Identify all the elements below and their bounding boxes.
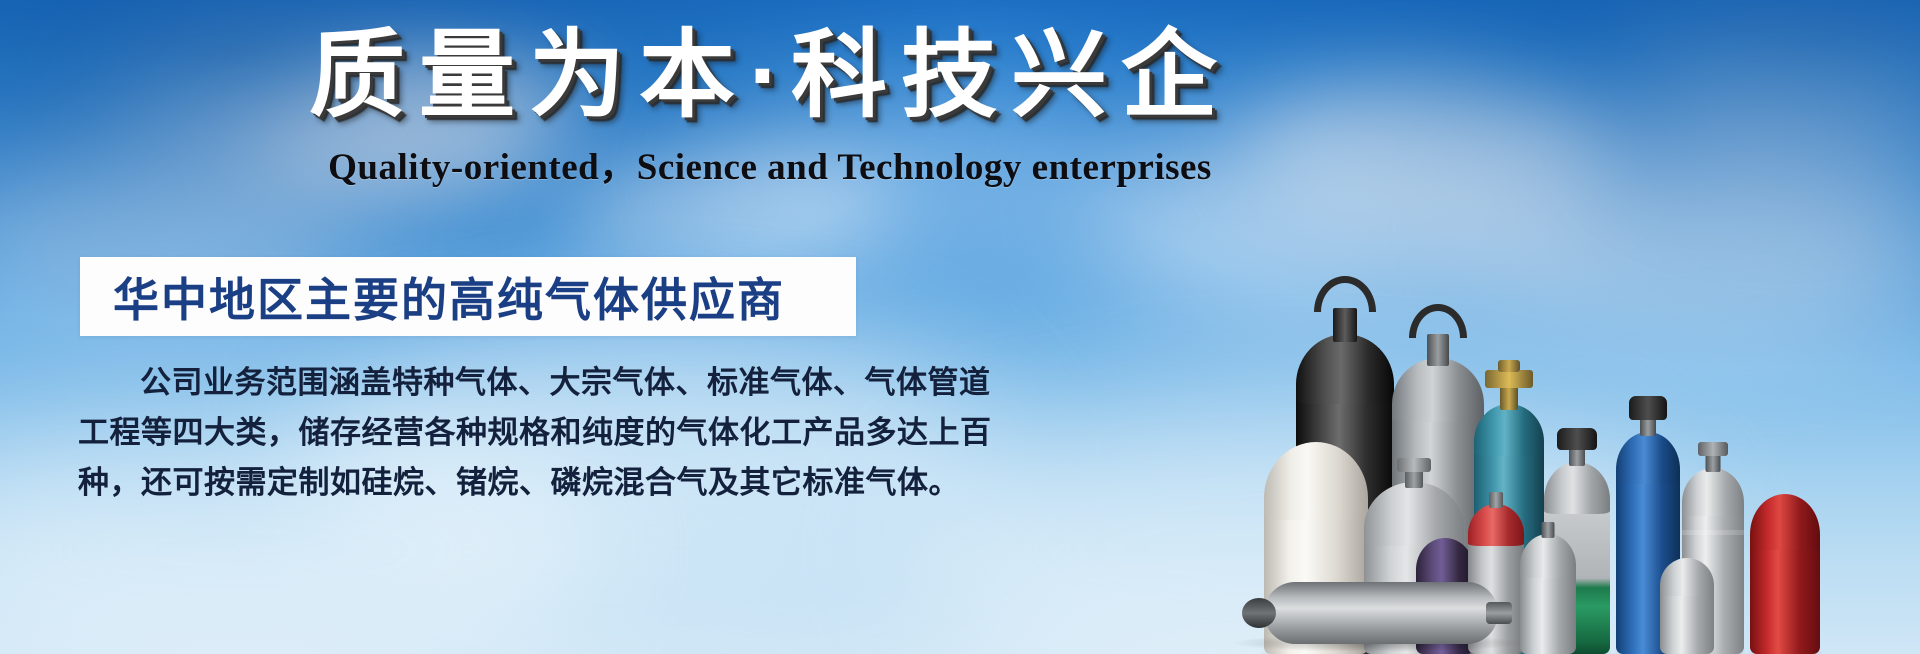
red-aluminium-cylinder bbox=[1750, 494, 1820, 654]
description-paragraph: 公司业务范围涵盖特种气体、大宗气体、标准气体、气体管道 工程等四大类，储存经营各… bbox=[78, 358, 868, 509]
headline-block: 质量为本·科技兴企 Quality-oriented，Science and T… bbox=[0, 22, 1540, 190]
banner: 质量为本·科技兴企 Quality-oriented，Science and T… bbox=[0, 0, 1920, 654]
silver-aluminium-cylinder bbox=[1520, 534, 1576, 654]
headline-right: 科技兴企 bbox=[791, 22, 1231, 129]
horizontal-grey-cylinder bbox=[1242, 582, 1512, 644]
paragraph-line-3: 种，还可按需定制如硅烷、锗烷、磷烷混合气及其它标准气体。 bbox=[78, 458, 868, 508]
paragraph-line-1: 公司业务范围涵盖特种气体、大宗气体、标准气体、气体管道 bbox=[78, 358, 868, 408]
slogan-text: 华中地区主要的高纯气体供应商 bbox=[80, 264, 785, 330]
gas-cylinder-lineup bbox=[1220, 234, 1920, 654]
page-title: 质量为本·科技兴企 bbox=[0, 22, 1540, 130]
headline-left: 质量为本 bbox=[309, 22, 749, 129]
silver-aluminium-cylinder bbox=[1660, 558, 1714, 654]
page-subtitle: Quality-oriented，Science and Technology … bbox=[0, 136, 1540, 190]
headline-separator: · bbox=[749, 22, 791, 129]
slogan-box: 华中地区主要的高纯气体供应商 bbox=[80, 257, 856, 336]
paragraph-line-2: 工程等四大类，储存经营各种规格和纯度的气体化工产品多达上百 bbox=[78, 408, 868, 458]
